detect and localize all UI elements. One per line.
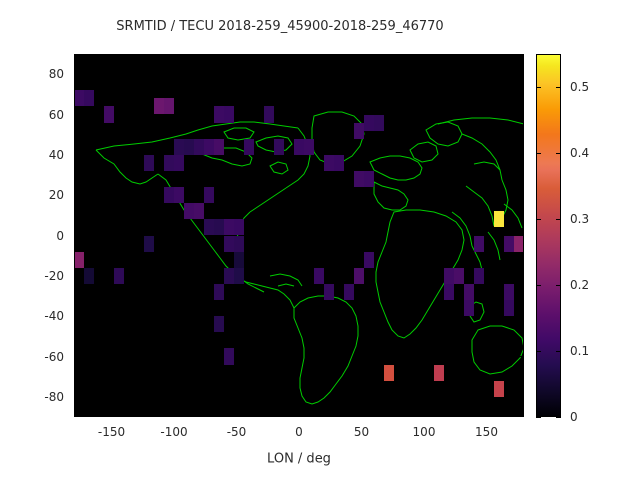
y-tick-mark <box>74 356 79 357</box>
x-tick-label: -150 <box>82 425 142 439</box>
colorbar-tick-mark <box>536 351 541 352</box>
data-cell <box>454 268 464 284</box>
data-cell <box>224 219 234 235</box>
y-tick-mark <box>74 316 79 317</box>
colorbar-tick-label: 0.3 <box>570 212 589 226</box>
data-cell <box>294 139 304 155</box>
data-cell <box>494 211 504 227</box>
y-tick-mark <box>74 396 79 397</box>
y-tick-mark <box>74 195 79 196</box>
data-cell <box>444 284 454 300</box>
data-cell <box>204 187 214 203</box>
data-cell <box>224 268 234 284</box>
data-cell <box>204 139 214 155</box>
y-tick-mark <box>74 114 79 115</box>
data-cell <box>314 268 324 284</box>
data-cell <box>214 106 224 122</box>
data-cell <box>344 284 354 300</box>
data-cell <box>74 252 84 268</box>
y-tick-label: 20 <box>0 188 64 202</box>
x-tick-mark <box>111 412 112 417</box>
colorbar-tick-mark <box>556 417 561 418</box>
colorbar-tick-mark <box>556 153 561 154</box>
data-cell <box>494 381 504 397</box>
x-tick-mark <box>361 54 362 59</box>
page-title: SRMTID / TECU 2018-259_45900-2018-259_46… <box>0 19 560 34</box>
data-cell <box>214 316 224 332</box>
data-cell <box>164 187 174 203</box>
data-cell <box>214 284 224 300</box>
colorbar-tick-mark <box>536 285 541 286</box>
data-cell <box>514 236 524 252</box>
colorbar-tick-mark <box>556 219 561 220</box>
data-cell <box>154 98 164 114</box>
colorbar-tick-mark <box>556 351 561 352</box>
x-tick-mark <box>236 412 237 417</box>
y-tick-mark <box>519 114 524 115</box>
colorbar-tick-mark <box>536 87 541 88</box>
colorbar-tick-mark <box>556 285 561 286</box>
data-cell <box>304 139 314 155</box>
colorbar-tick-label: 0.1 <box>570 344 589 358</box>
x-tick-label: 100 <box>394 425 454 439</box>
colorbar-tick-label: 0.5 <box>570 80 589 94</box>
y-tick-label: 60 <box>0 108 64 122</box>
colorbar-tick-mark <box>556 87 561 88</box>
data-cell <box>144 236 154 252</box>
x-tick-label: 0 <box>269 425 329 439</box>
data-cell <box>164 155 174 171</box>
data-cell <box>474 236 484 252</box>
data-cell <box>174 139 184 155</box>
figure-canvas: SRMTID / TECU 2018-259_45900-2018-259_46… <box>0 0 640 480</box>
data-cell <box>364 115 374 131</box>
colorbar-tick-label: 0.4 <box>570 146 589 160</box>
data-cell <box>504 236 514 252</box>
x-tick-mark <box>174 54 175 59</box>
data-cell <box>224 348 234 364</box>
x-tick-mark <box>174 412 175 417</box>
y-tick-mark <box>74 235 79 236</box>
x-axis-label: LON / deg <box>267 452 331 467</box>
data-cell <box>204 219 214 235</box>
colorbar-tick-mark <box>536 153 541 154</box>
data-cell <box>384 365 394 381</box>
data-cell <box>474 268 484 284</box>
data-cell <box>354 123 364 139</box>
data-cell <box>464 300 474 316</box>
data-cell <box>214 219 224 235</box>
map-plot-area[interactable] <box>74 54 524 417</box>
data-cell <box>244 139 254 155</box>
x-tick-mark <box>486 54 487 59</box>
x-tick-mark <box>111 54 112 59</box>
colorbar-tick-label: 0.2 <box>570 278 589 292</box>
data-cell <box>224 106 234 122</box>
data-cell <box>324 155 334 171</box>
data-cell <box>234 236 244 252</box>
colorbar-tick-mark <box>536 417 541 418</box>
y-tick-mark <box>74 275 79 276</box>
data-cell <box>214 139 224 155</box>
y-tick-label: -60 <box>0 350 64 364</box>
data-cell <box>184 139 194 155</box>
x-tick-mark <box>361 412 362 417</box>
data-cell <box>84 268 94 284</box>
x-tick-mark <box>486 412 487 417</box>
data-cell <box>374 115 384 131</box>
y-tick-label: -40 <box>0 309 64 323</box>
data-cell <box>184 203 194 219</box>
data-cell <box>504 284 514 300</box>
data-cell <box>434 365 444 381</box>
data-cell <box>324 284 334 300</box>
x-tick-mark <box>424 54 425 59</box>
data-cell <box>164 98 174 114</box>
data-cell <box>174 155 184 171</box>
y-tick-mark <box>519 74 524 75</box>
x-tick-label: 50 <box>332 425 392 439</box>
data-cell <box>274 139 284 155</box>
y-tick-mark <box>74 154 79 155</box>
data-cell <box>354 268 364 284</box>
colorbar-tick-label: 0 <box>570 410 578 424</box>
colorbar-tick-mark <box>536 219 541 220</box>
data-cell <box>234 219 244 235</box>
data-cell <box>114 268 124 284</box>
y-tick-label: 80 <box>0 67 64 81</box>
data-cell <box>464 284 474 300</box>
data-cell <box>504 300 514 316</box>
data-cell <box>354 171 364 187</box>
y-tick-label: -20 <box>0 269 64 283</box>
data-cell <box>444 268 454 284</box>
data-cell <box>234 252 244 268</box>
x-tick-label: 150 <box>457 425 517 439</box>
data-cell-layer <box>74 54 524 417</box>
data-cell <box>84 90 94 106</box>
data-cell <box>364 252 374 268</box>
y-tick-mark <box>519 316 524 317</box>
x-tick-mark <box>299 54 300 59</box>
y-tick-label: 0 <box>0 229 64 243</box>
y-tick-mark <box>519 154 524 155</box>
x-tick-mark <box>424 412 425 417</box>
y-tick-mark <box>519 275 524 276</box>
y-tick-mark <box>519 356 524 357</box>
x-tick-label: -50 <box>207 425 267 439</box>
data-cell <box>144 155 154 171</box>
data-cell <box>174 187 184 203</box>
data-cell <box>364 171 374 187</box>
data-cell <box>224 236 234 252</box>
data-cell <box>194 203 204 219</box>
y-tick-mark <box>519 195 524 196</box>
data-cell <box>104 106 114 122</box>
data-cell <box>234 268 244 284</box>
data-cell <box>264 106 274 122</box>
data-cell <box>74 90 84 106</box>
x-tick-mark <box>299 412 300 417</box>
y-tick-label: 40 <box>0 148 64 162</box>
y-tick-mark <box>519 235 524 236</box>
data-cell <box>334 155 344 171</box>
colorbar[interactable] <box>536 54 561 417</box>
y-tick-mark <box>74 74 79 75</box>
x-tick-mark <box>236 54 237 59</box>
data-cell <box>194 139 204 155</box>
y-tick-label: -80 <box>0 390 64 404</box>
x-tick-label: -100 <box>144 425 204 439</box>
y-tick-mark <box>519 396 524 397</box>
